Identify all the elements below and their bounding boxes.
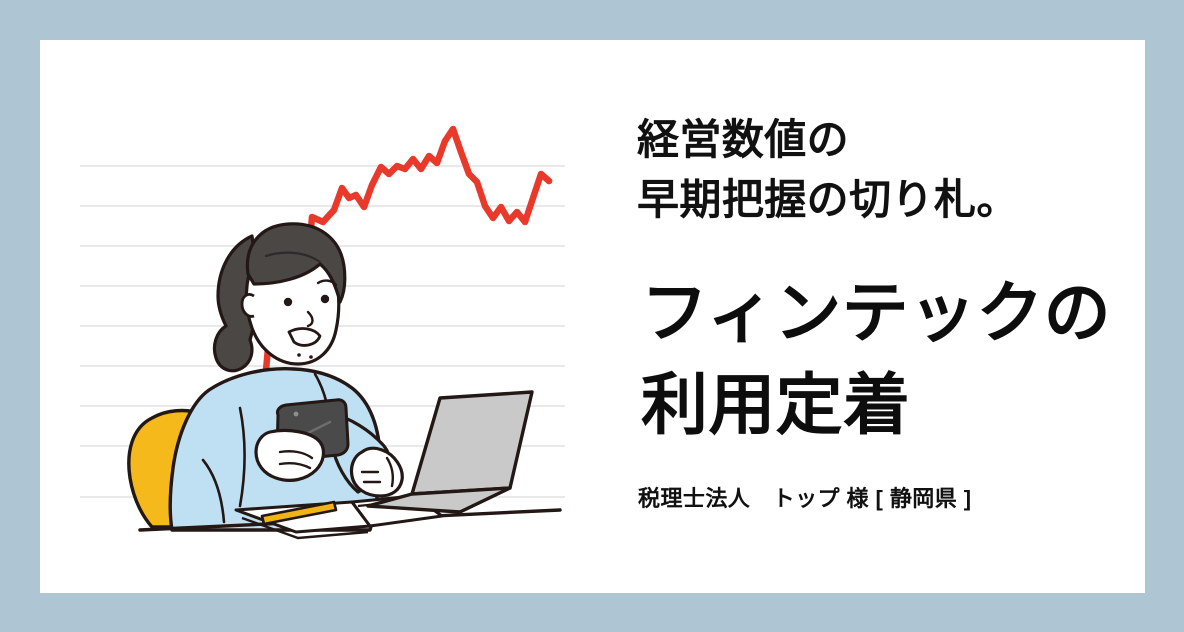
white-card: 経営数値の 早期把握の切り札。 フィンテックの 利用定着 税理士法人 トップ 様… [40, 40, 1145, 593]
illustration [40, 40, 600, 593]
banner-root: 経営数値の 早期把握の切り札。 フィンテックの 利用定着 税理士法人 トップ 様… [0, 0, 1184, 632]
byline: 税理士法人 トップ 様 [ 静岡県 ] [638, 481, 971, 513]
text-block: 経営数値の 早期把握の切り札。 フィンテックの 利用定着 税理士法人 トップ 様… [597, 40, 1145, 593]
person-left-hand [256, 430, 323, 480]
page-title: フィンテックの 利用定着 [641, 268, 1111, 452]
subtitle: 経営数値の 早期把握の切り札。 [637, 110, 1019, 229]
person-right-hand [351, 448, 402, 496]
